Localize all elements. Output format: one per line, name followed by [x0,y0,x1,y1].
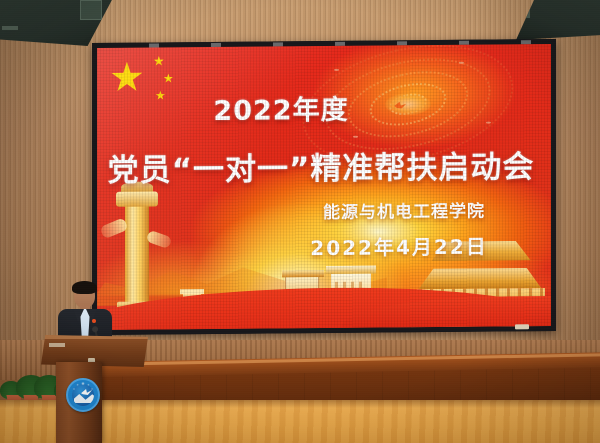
led-display-screen: ★ ★ ★ ★ [97,44,551,330]
screen-date: 2022年4月22日 [97,230,551,263]
conference-hall-scene: ★ ★ ★ ★ [0,0,600,443]
led-text-block: 2022年度 党员“一对一”精准帮扶启动会 能源与机电工程学院 2022年4月2… [97,44,551,330]
speaker-grille [80,0,102,20]
screen-mount-tag [515,324,529,329]
presenter-hair [72,281,97,294]
presenter-lapel-pin [92,319,96,323]
emblem-ring-text [68,380,98,410]
screen-year-line: 2022年度 [97,86,551,129]
presenter-figure [58,283,114,343]
university-emblem [66,378,100,412]
screen-organization: 能源与机电工程学院 [97,196,551,225]
led-display-frame[interactable]: ★ ★ ★ ★ [92,39,556,335]
screen-main-title: 党员“一对一”精准帮扶启动会 [97,141,551,190]
speaker-badge [2,26,18,30]
podium-nameplate [49,343,65,347]
